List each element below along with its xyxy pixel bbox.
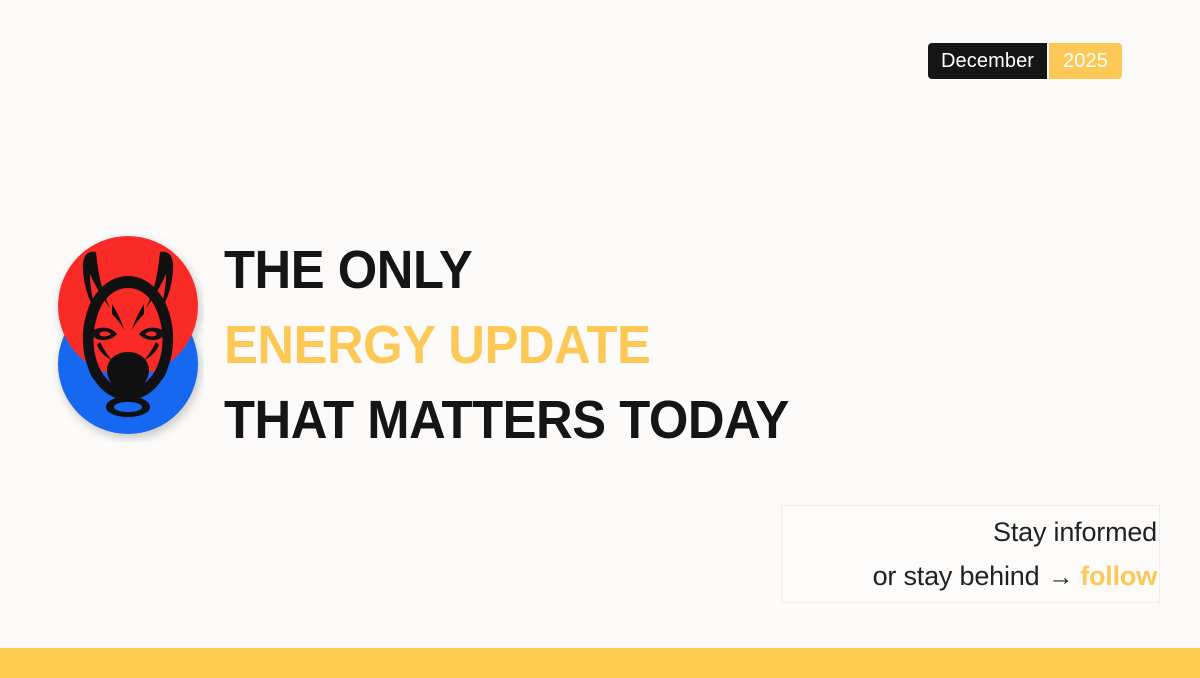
cta-line-2: or stay behind → follow [873,554,1157,599]
date-badge-month: December [928,43,1047,79]
headline: THE ONLY ENERGY UPDATE THAT MATTERS TODA… [224,233,984,458]
arrow-right-icon: → [1039,555,1080,599]
headline-line-3: THAT MATTERS TODAY [224,383,938,458]
poster-canvas: December 2025 [0,0,1200,678]
fox-head-logo [52,230,204,442]
cta-line-1: Stay informed [993,510,1157,554]
cta-card[interactable]: Stay informed or stay behind → follow [781,505,1160,603]
date-badge-year: 2025 [1049,43,1122,79]
follow-link[interactable]: follow [1080,554,1157,598]
date-badge: December 2025 [928,43,1122,79]
headline-line-1: THE ONLY [224,233,938,308]
headline-line-2: ENERGY UPDATE [224,308,938,383]
bottom-accent-bar [0,648,1200,678]
cta-line-2-prefix: or stay behind [873,554,1040,598]
